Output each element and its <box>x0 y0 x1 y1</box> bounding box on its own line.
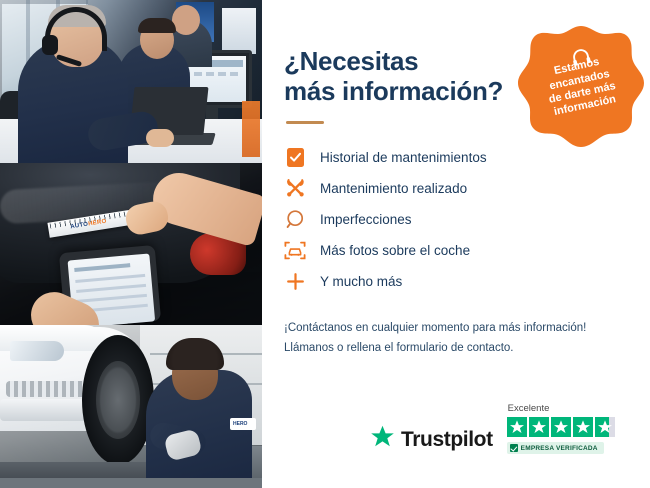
trustpilot-logo[interactable]: Trustpilot <box>370 425 493 454</box>
contact-copy-line2: Llámanos o rellena el formulario de cont… <box>284 342 514 354</box>
feature-label: Más fotos sobre el coche <box>320 243 470 258</box>
trustpilot-rating[interactable]: Trustpilot Excelente <box>370 403 615 454</box>
verified-company-badge: EMPRESA VERIFICADA <box>507 442 604 454</box>
car-wheel <box>82 335 154 465</box>
feature-list: Historial de mantenimientos M <box>284 142 622 297</box>
star-filled-4 <box>573 417 593 437</box>
contact-copy: ¡Contáctanos en cualquier momento para m… <box>284 319 622 359</box>
plus-icon <box>284 270 306 292</box>
feature-label: Historial de mantenimientos <box>320 150 487 165</box>
second-agent-hair <box>138 18 176 33</box>
background-person-head <box>172 5 200 35</box>
tools-icon <box>284 177 306 199</box>
trustpilot-star-icon <box>370 425 395 454</box>
car-inspection-ruler-photo: AUTOHERO <box>0 163 262 326</box>
service-history-icon <box>284 146 306 168</box>
star-partial-5 <box>595 417 615 437</box>
title-divider <box>286 121 324 124</box>
trustpilot-rating-label: Excelente <box>508 403 550 414</box>
feature-item-more-photos: Más fotos sobre el coche <box>284 235 622 266</box>
badge-text: Estamos encantados de darte más informac… <box>506 12 650 161</box>
verified-check-icon <box>510 444 518 452</box>
feature-label: Imperfecciones <box>320 212 412 227</box>
feature-label: Mantenimiento realizado <box>320 181 467 196</box>
uniform-logo-text: HERO <box>233 421 247 427</box>
info-promo-card: AUTOHERO HERO <box>0 0 650 488</box>
feature-label: Y mucho más <box>320 274 402 289</box>
mechanic-wheel-photo: HERO <box>0 325 262 488</box>
info-badge-seal: Estamos encantados de darte más informac… <box>518 24 644 150</box>
feature-item-imperfections: Imperfecciones <box>284 204 622 235</box>
page-title-line2: más información? <box>284 76 503 106</box>
contact-copy-line1: ¡Contáctanos en cualquier momento para m… <box>284 322 586 334</box>
trustpilot-stars <box>507 417 615 437</box>
wall-poster-light <box>222 8 256 54</box>
trustpilot-score-block: Excelente <box>507 403 615 454</box>
feature-item-maintenance-done: Mantenimiento realizado <box>284 173 622 204</box>
car-headlight <box>10 341 64 361</box>
star-filled-2 <box>529 417 549 437</box>
star-filled-1 <box>507 417 527 437</box>
headset-earcup <box>42 35 58 55</box>
content-panel: ¿Necesitas más información? Historial de… <box>262 0 650 488</box>
magnifier-icon <box>284 208 306 230</box>
star-filled-3 <box>551 417 571 437</box>
orange-equipment <box>242 101 260 157</box>
verified-label: EMPRESA VERIFICADA <box>521 445 598 452</box>
photo-column: AUTOHERO HERO <box>0 0 262 488</box>
trustpilot-wordmark: Trustpilot <box>401 428 493 452</box>
uniform-logo-patch: HERO <box>230 418 256 430</box>
workshop-floor <box>0 478 262 488</box>
call-center-agents-photo <box>0 0 262 163</box>
car-scan-icon <box>284 239 306 261</box>
page-title-line1: ¿Necesitas <box>284 46 418 76</box>
feature-item-much-more: Y mucho más <box>284 266 622 297</box>
agent-hand <box>146 129 174 147</box>
